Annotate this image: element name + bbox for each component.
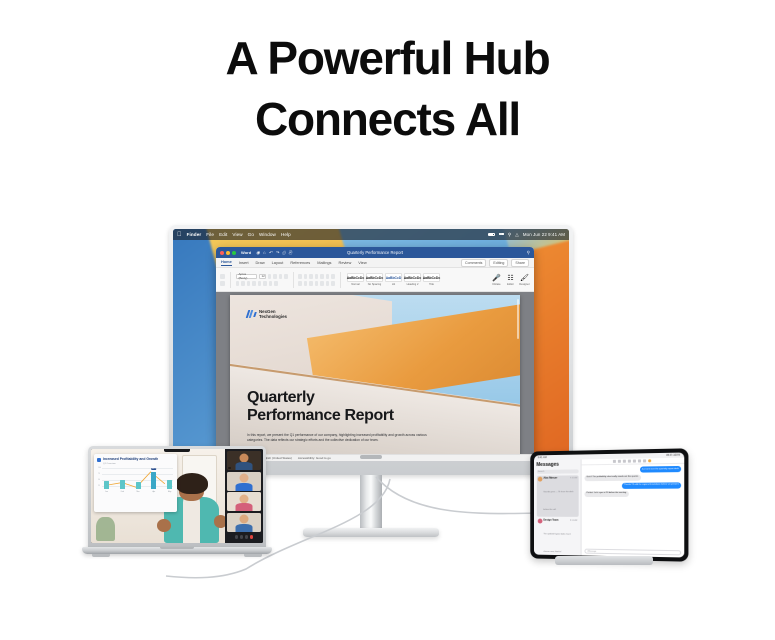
share-button[interactable] <box>245 535 249 539</box>
conversation-name: Alex Mercer <box>543 477 557 480</box>
text-highlight-icon[interactable] <box>269 281 273 286</box>
style-no-spacing[interactable]: AaBbCcDc No Spacing <box>366 273 383 286</box>
editor-icon: ☷ <box>505 274 516 283</box>
list-item[interactable]: Alex Mercer 9:32 AM Sounds great — I'll … <box>536 475 578 517</box>
message-bubbles: Just sent over the quarterly report draf… <box>582 464 685 550</box>
device-stage:  Finder File Edit View Go Window Help ⚲… <box>0 195 775 615</box>
monitor-bezel:  Finder File Edit View Go Window Help ⚲… <box>169 225 573 475</box>
battery-icon[interactable] <box>488 233 495 237</box>
bar-jan <box>104 481 109 489</box>
x-tick-feb: Feb <box>120 491 125 493</box>
align-right-icon[interactable] <box>309 281 313 286</box>
brand-name-line-2: Technologies <box>259 314 287 319</box>
designer-label: Designer <box>519 283 530 286</box>
message-bubble-sent: Thanks! I'll add the regional breakdown … <box>622 482 681 488</box>
paste-icon[interactable] <box>220 274 225 279</box>
conversation-time: 9:32 AM <box>570 477 577 479</box>
status-indicators: Wi-Fi 100% <box>666 454 680 457</box>
macbook-feet <box>92 554 262 557</box>
conversation-thread: Just sent over the quarterly report draf… <box>582 458 685 558</box>
microphone-icon: 🎤 <box>491 274 502 283</box>
tab-review[interactable]: Review <box>339 260 352 265</box>
call-main-stage: Increased Profitability and Growth Q1 Ov… <box>91 449 225 543</box>
editor-button[interactable]: ☷ Editor <box>505 274 516 286</box>
tab-layout[interactable]: Layout <box>272 260 284 265</box>
paste-group[interactable] <box>220 274 225 286</box>
slide-subtitle: Q1 Overview <box>103 463 174 465</box>
subscript-icon[interactable] <box>258 281 262 286</box>
style-label: Heading 2 <box>404 283 421 286</box>
menu-item-finder[interactable]: Finder <box>187 232 202 237</box>
brand-logo: NexGen Technologies <box>247 309 287 320</box>
strikethrough-icon[interactable] <box>252 281 256 286</box>
bold-icon[interactable] <box>618 460 621 463</box>
print-icon[interactable]: ⎙ <box>282 250 286 256</box>
show-marks-icon[interactable] <box>331 274 335 279</box>
menu-item-edit[interactable]: Edit <box>219 232 227 237</box>
save-icon[interactable]: ⌂ <box>263 250 266 256</box>
tab-draw[interactable]: Draw <box>256 260 265 265</box>
sort-icon[interactable] <box>326 274 330 279</box>
x-tick-jan: Jan <box>104 491 109 493</box>
participant-tile[interactable] <box>227 472 261 491</box>
message-bubble-received: Perfect. Let's sync at 10 before the mee… <box>585 491 629 497</box>
style-label: No Spacing <box>366 283 383 286</box>
shading-icon[interactable] <box>326 281 330 286</box>
style-sample: AaBbCcDc <box>404 273 421 282</box>
promo-page: A Powerful Hub Connects All  Finder Fil… <box>0 0 775 640</box>
search-icon[interactable]: ⚲ <box>527 250 530 256</box>
style-label: H1 <box>385 283 402 286</box>
document-body-text: In this report, we present the Q1 perfor… <box>247 433 443 444</box>
font-size-input[interactable]: 12 <box>259 274 266 279</box>
slide-title: Increased Profitability and Growth <box>103 457 158 461</box>
designer-icon: 🖌 <box>519 274 530 283</box>
app-name-label: Word <box>241 250 251 255</box>
tab-insert[interactable]: Insert <box>239 260 249 265</box>
document-title: Quarterly Performance Report <box>347 250 403 255</box>
dictate-label: Dictate <box>491 283 502 286</box>
mic-muted-icon <box>228 467 231 470</box>
headline-line-2: Connects All <box>0 89 775 150</box>
ribbon-tabs[interactable]: Home Insert Draw Layout References Maili… <box>216 258 534 268</box>
format-painter-icon[interactable] <box>220 281 225 286</box>
call-controls[interactable] <box>227 533 261 541</box>
macbook-screen: Increased Profitability and Growth Q1 Ov… <box>91 449 263 543</box>
apple-icon[interactable]:  <box>177 232 182 238</box>
bold-icon[interactable] <box>236 281 240 286</box>
redo-icon[interactable]: ↷ <box>275 250 279 256</box>
back-icon[interactable] <box>613 460 616 463</box>
ipad-stand <box>555 556 653 565</box>
underline-icon[interactable] <box>628 460 631 463</box>
participant-tile[interactable] <box>227 451 261 470</box>
ipad-body: 9:41 AM Wi-Fi 100% Messages Search <box>530 448 688 561</box>
window-controls[interactable] <box>220 251 236 255</box>
document-canvas[interactable]: NexGen Technologies Quarterly Performanc… <box>216 292 534 461</box>
document-page[interactable]: NexGen Technologies Quarterly Performanc… <box>230 295 520 461</box>
style-sample: AaBbCcDc <box>366 273 383 282</box>
bar-may <box>167 480 172 489</box>
app-store-icon[interactable] <box>643 459 646 462</box>
word-title-bar: Word ◉ ⌂ ↶ ↷ ⎙ ⎘ Quarterly Performance R… <box>216 247 534 258</box>
x-tick-mar: Mar <box>136 491 141 493</box>
bar-mar <box>136 482 141 489</box>
style-sample: AaBbCcDc <box>423 273 440 282</box>
document-scrollbar[interactable] <box>517 299 519 339</box>
decrease-indent-icon[interactable] <box>315 274 319 279</box>
end-call-button[interactable] <box>250 535 254 539</box>
x-tick-apr: Apr <box>151 491 156 493</box>
y-tick-50: 50 <box>98 479 100 481</box>
messages-header: Messages <box>536 461 578 468</box>
participant-tile[interactable] <box>227 513 261 532</box>
slide-bar-chart: 100 75 50 25 <box>102 466 173 493</box>
search-input[interactable]: Search <box>536 469 578 473</box>
message-placeholder: iMessage <box>588 550 597 552</box>
document-heading-line-1: Quarterly <box>247 389 315 406</box>
close-button[interactable] <box>220 251 224 255</box>
y-tick-75: 75 <box>98 473 100 475</box>
camera-icon[interactable] <box>638 459 641 462</box>
search-icon[interactable]: ⚲ <box>508 232 511 238</box>
italic-icon[interactable] <box>241 281 245 286</box>
justify-icon[interactable] <box>315 281 319 286</box>
style-heading-2[interactable]: AaBbCcDc Heading 2 <box>404 273 421 286</box>
search-placeholder: Search <box>538 470 545 472</box>
editing-button[interactable]: Editing <box>489 259 508 267</box>
tab-references[interactable]: References <box>290 260 310 265</box>
increase-indent-icon[interactable] <box>320 274 324 279</box>
wifi-icon[interactable]: △ <box>515 232 519 238</box>
bar-apr: 86% <box>151 472 156 489</box>
menu-item-window[interactable]: Window <box>259 232 276 237</box>
numbered-list-icon[interactable] <box>304 274 308 279</box>
message-bubble-received: Got it! The profitability chart really s… <box>585 475 641 482</box>
y-tick-100: 100 <box>98 467 101 469</box>
brand-name-line-1: NexGen <box>259 309 276 314</box>
style-sample: AaBbCcDc <box>347 273 364 282</box>
message-bubble-sent: Just sent over the quarterly report draf… <box>640 466 682 473</box>
video-call-app: Increased Profitability and Growth Q1 Ov… <box>91 449 263 543</box>
menu-item-file[interactable]: File <box>206 232 214 237</box>
ipad-tablet: 9:41 AM Wi-Fi 100% Messages Search <box>527 450 687 560</box>
camera-notch <box>164 449 190 452</box>
macos-menu-bar[interactable]:  Finder File Edit View Go Window Help ⚲… <box>173 229 569 240</box>
ipad-screen: 9:41 AM Wi-Fi 100% Messages Search <box>534 453 684 558</box>
maximize-button[interactable] <box>232 251 236 255</box>
ribbon-toolbar[interactable]: Aptos (Body) 12 <box>216 268 534 292</box>
style-heading-1[interactable]: AaBbCcD H1 <box>385 273 402 286</box>
photo-icon[interactable] <box>633 460 636 463</box>
borders-icon[interactable] <box>331 281 335 286</box>
style-label: Title <box>423 283 440 286</box>
menu-item-go[interactable]: Go <box>248 232 254 237</box>
nexgen-logo-icon <box>247 310 256 318</box>
emoji-icon[interactable] <box>648 459 651 462</box>
multilevel-list-icon[interactable] <box>309 274 313 279</box>
y-tick-25: 25 <box>98 485 100 487</box>
menu-bar-clock[interactable]: Mon Jun 22 9:41 AM <box>523 232 565 237</box>
line-spacing-icon[interactable] <box>320 281 324 286</box>
style-normal[interactable]: AaBbCcDc Normal <box>347 273 364 286</box>
macbook-lid: Increased Profitability and Growth Q1 Ov… <box>88 446 266 549</box>
macbook-base <box>82 547 272 554</box>
control-center-icon[interactable] <box>499 232 504 237</box>
document-heading: Quarterly Performance Report <box>247 389 394 425</box>
messages-app: Messages Search Alex Mercer 9:32 AM <box>534 458 684 558</box>
comments-button[interactable]: Comments <box>461 259 486 267</box>
mic-button[interactable] <box>235 535 239 539</box>
shared-slide: Increased Profitability and Growth Q1 Ov… <box>94 454 177 512</box>
key-tab[interactable]: tab <box>536 557 552 558</box>
participant-tile[interactable] <box>227 492 261 511</box>
layout-icon[interactable]: ⎘ <box>289 250 293 256</box>
grow-font-icon[interactable] <box>268 274 272 279</box>
style-sample: AaBbCcD <box>385 273 402 282</box>
tab-view[interactable]: View <box>358 260 366 265</box>
autosave-icon[interactable]: ◉ <box>256 250 260 256</box>
message-input[interactable]: iMessage <box>585 549 681 556</box>
style-label: Normal <box>347 283 364 286</box>
shrink-font-icon[interactable] <box>273 274 277 279</box>
conversation-name: Design Team <box>543 518 558 521</box>
align-center-icon[interactable] <box>304 281 308 286</box>
macbook-laptop: Increased Profitability and Growth Q1 Ov… <box>82 446 272 566</box>
word-window: Word ◉ ⌂ ↶ ↷ ⎙ ⎘ Quarterly Performance R… <box>216 247 534 461</box>
conversation-preview: The updated layout looks much cleaner no… <box>543 533 570 553</box>
designer-button[interactable]: 🖌 Designer <box>519 274 530 286</box>
editor-label: Editor <box>505 283 516 286</box>
paragraph-group[interactable] <box>298 274 335 286</box>
avatar <box>537 518 542 523</box>
dictate-button[interactable]: 🎤 Dictate <box>491 274 502 286</box>
conversation-time: 8:54 AM <box>570 519 577 521</box>
tab-mailings[interactable]: Mailings <box>317 260 331 265</box>
style-title[interactable]: AaBbCcDc Title <box>423 273 440 286</box>
font-group[interactable]: Aptos (Body) 12 <box>236 274 288 286</box>
bullet-list-icon[interactable] <box>298 274 302 279</box>
menu-item-view[interactable]: View <box>232 232 242 237</box>
conversation-list[interactable]: Messages Search Alex Mercer 9:32 AM <box>534 459 582 555</box>
italic-icon[interactable] <box>623 460 626 463</box>
slide-bullet-icon <box>97 458 101 462</box>
clear-formatting-icon[interactable] <box>284 274 288 279</box>
chart-bars: 86% <box>104 468 172 489</box>
camera-button[interactable] <box>240 535 244 539</box>
document-heading-line-2: Performance Report <box>247 407 394 424</box>
minimize-button[interactable] <box>226 251 230 255</box>
align-left-icon[interactable] <box>298 281 302 286</box>
participant-rail <box>225 449 263 543</box>
page-title: A Powerful Hub Connects All <box>0 28 775 150</box>
change-case-icon[interactable] <box>279 274 283 279</box>
avatar <box>537 477 542 482</box>
menu-item-help[interactable]: Help <box>281 232 291 237</box>
underline-icon[interactable] <box>247 281 251 286</box>
list-item[interactable]: Design Team 8:54 AM The updated layout l… <box>536 517 578 558</box>
status-time: 9:41 AM <box>538 456 547 459</box>
font-color-icon[interactable] <box>274 281 278 286</box>
tab-home[interactable]: Home <box>221 259 232 266</box>
status-accessibility: Accessibility: Good to go <box>298 456 331 460</box>
styles-gallery[interactable]: AaBbCcDc Normal AaBbCcDc No Spacing AaBb… <box>347 273 440 286</box>
monitor-screen:  Finder File Edit View Go Window Help ⚲… <box>173 229 569 461</box>
bar-feb <box>120 480 125 489</box>
x-tick-may: May <box>167 491 172 493</box>
superscript-icon[interactable] <box>263 281 267 286</box>
ribbon-tools[interactable]: 🎤 Dictate ☷ Editor 🖌 Designer <box>491 274 530 286</box>
conversation-preview: Sounds great — I'll share the deck befor… <box>543 491 573 511</box>
bar-value-label: 86% <box>151 468 157 471</box>
undo-icon[interactable]: ↶ <box>269 250 273 256</box>
headline-line-1: A Powerful Hub <box>226 32 550 84</box>
share-button[interactable]: Share <box>511 259 529 267</box>
external-monitor:  Finder File Edit View Go Window Help ⚲… <box>169 225 573 475</box>
font-name-input[interactable]: Aptos (Body) <box>236 274 257 279</box>
quick-access-toolbar[interactable]: ◉ ⌂ ↶ ↷ ⎙ ⎘ <box>256 250 292 256</box>
chart-x-labels: Jan Feb Mar Apr May <box>104 491 172 493</box>
